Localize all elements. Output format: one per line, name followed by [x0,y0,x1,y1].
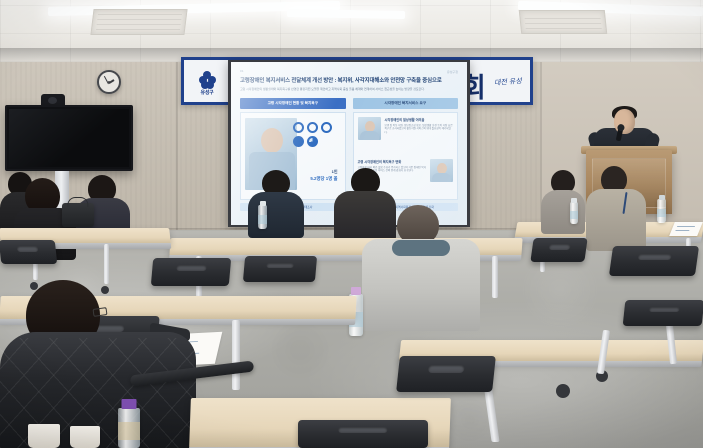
water-bottle [570,202,578,224]
paper-cup [28,424,60,448]
block-text: 보행 및 이동 지원, 정보접근성 확보, 일상생활 훈련 등이 가장 높은 욕… [385,124,454,136]
slide-left-header: 고령 시각장애인 현황 및 복지욕구 [240,98,346,108]
circle-icon [321,122,332,133]
statistic-circles [293,122,339,150]
chair-caster [101,286,109,294]
seminar-room-photo: 유성구 시각 회 대전 유성 01 유성구청 고령장애인 복지서비스 전달체계 … [0,0,703,448]
circle-icon-partial [307,136,318,147]
city-emblem: 대전 유성 [485,68,531,97]
wall-clock [97,70,121,94]
ceiling-air-vent [519,10,608,34]
attendee-torso [586,189,646,251]
circle-icon [307,122,318,133]
stacking-chair [530,238,587,262]
water-bottle [258,205,267,229]
slide-title: 고령장애인 복지서비스 전달체계 개선 방안 : 복지위, 사각지대해소와 안전… [240,76,458,84]
ceiling-air-vent [90,9,187,35]
stacking-chair [0,240,57,264]
attendee-collar [392,240,450,256]
slide-block: 시각장애인의 일상생활 어려움 보행 및 이동 지원, 정보접근성 확보, 일상… [358,117,454,153]
printed-handout [669,222,703,236]
organization-name: 유성구 [201,89,214,96]
table-leg [492,256,498,298]
stacking-chair [298,420,428,448]
stat-label: 5.2명당 1명 꼴 [310,176,337,182]
flower-logo-icon [199,71,216,88]
block-title: 시각장애인의 일상생활 어려움 [385,117,454,122]
slide-corner-tag: 유성구청 [447,70,458,74]
slide-right-header: 시각장애인 복지서비스 요구 [353,98,459,108]
wall-display-monitor [5,105,133,171]
stacking-chair [151,258,231,286]
attendee-torso [334,191,396,241]
stacking-chair [623,300,703,326]
stat-unit: 1인 [310,169,337,175]
person-photo [358,117,381,140]
shoulder-bag [62,203,94,227]
circle-icon-filled [293,136,304,147]
circle-icon [293,122,304,133]
stacking-chair [609,246,699,276]
table-leg [232,320,240,390]
slide-statistic: 1인 5.2명당 1명 꼴 [310,169,337,182]
block-title: 고령 시각장애인의 복지욕구 변화 [358,159,427,164]
table-leg [104,244,109,284]
water-bottle [118,408,140,448]
attendee-torso [248,192,304,238]
chair-caster [556,384,570,398]
stacking-chair [243,256,317,282]
slide-subtitle: 고령 시각장애인의 생활실태와 복지욕구를 반영한 통합지원 모델을 제안하고 … [240,87,432,91]
person-photo [430,159,453,182]
paper-cup [70,426,100,448]
stacking-chair [396,356,496,392]
attendee-torso [541,190,585,234]
water-bottle [657,199,666,223]
organization-logo: 유성구 [192,67,222,99]
wall-seam-left [176,48,178,248]
slide-eyebrow: 01 [240,69,458,73]
